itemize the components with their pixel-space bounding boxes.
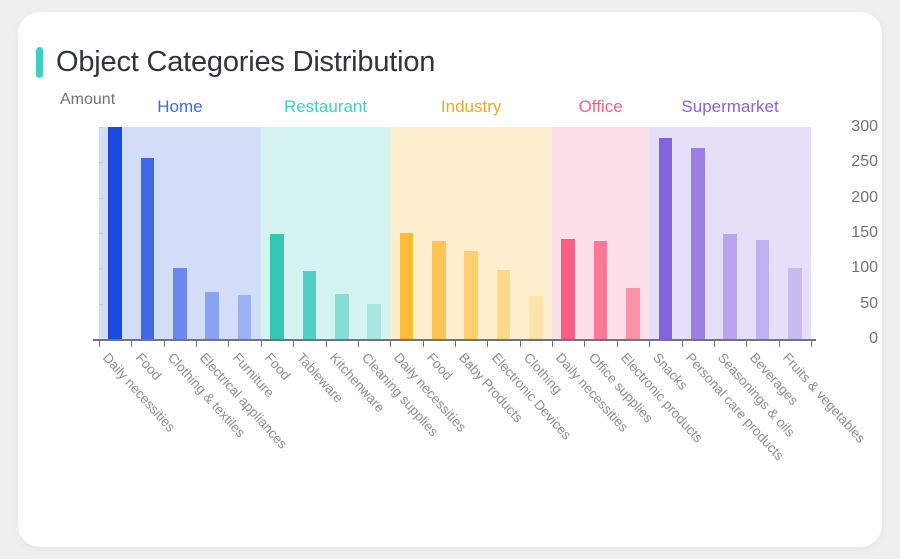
x-axis-tick-label: Food	[132, 350, 164, 383]
x-axis-tick-mark	[779, 341, 780, 347]
bar[interactable]	[238, 295, 252, 339]
bar[interactable]	[723, 234, 737, 339]
bar[interactable]	[788, 268, 802, 339]
x-axis-tick-mark	[714, 341, 715, 347]
group-title-supermarket: Supermarket	[649, 97, 811, 117]
group-title-industry: Industry	[390, 97, 552, 117]
x-axis-tick-mark	[390, 341, 391, 347]
y-axis-tick-label: 200	[851, 189, 878, 207]
bar[interactable]	[626, 288, 640, 339]
y-axis-tick-mark	[99, 162, 103, 163]
bar[interactable]	[659, 138, 673, 339]
bar[interactable]	[335, 294, 349, 339]
bar[interactable]	[497, 270, 511, 339]
x-axis-tick-mark	[520, 341, 521, 347]
y-axis-tick-mark	[99, 233, 103, 234]
group-title-office: Office	[552, 97, 649, 117]
x-axis-tick-mark	[131, 341, 132, 347]
x-axis-tick-mark	[358, 341, 359, 347]
x-axis-tick-mark	[261, 341, 262, 347]
x-axis-tick-mark	[487, 341, 488, 347]
group-title-home: Home	[99, 97, 261, 117]
bar[interactable]	[561, 239, 575, 339]
bar[interactable]	[529, 296, 543, 339]
y-axis-tick-mark	[99, 268, 103, 269]
bar[interactable]	[205, 292, 219, 339]
bar[interactable]	[367, 304, 381, 339]
x-axis-tick-mark	[811, 341, 812, 347]
bar[interactable]	[400, 233, 414, 339]
bar[interactable]	[173, 268, 187, 339]
y-axis-tick-label: 250	[851, 153, 878, 171]
bar[interactable]	[303, 271, 317, 339]
x-axis-tick-mark	[228, 341, 229, 347]
x-axis-tick-mark	[552, 341, 553, 347]
y-axis-tick-label: 0	[869, 330, 878, 348]
bar[interactable]	[432, 241, 446, 339]
x-axis-tick-mark	[423, 341, 424, 347]
x-axis-tick-mark	[617, 341, 618, 347]
plot-area: HomeRestaurantIndustryOfficeSupermarket	[99, 127, 811, 339]
x-axis-tick-mark	[746, 341, 747, 347]
group-title-restaurant: Restaurant	[261, 97, 390, 117]
x-axis-tick-mark	[196, 341, 197, 347]
bar[interactable]	[464, 251, 478, 339]
y-axis-tick-mark	[99, 127, 103, 128]
y-axis-tick-label: 300	[851, 118, 878, 136]
x-axis-tick-mark	[584, 341, 585, 347]
bar[interactable]	[141, 158, 155, 339]
bar[interactable]	[594, 241, 608, 339]
y-axis-tick-label: 50	[860, 295, 878, 313]
x-axis-tick-mark	[455, 341, 456, 347]
bar[interactable]	[691, 148, 705, 340]
bar[interactable]	[756, 240, 770, 339]
x-axis-tick-mark	[99, 341, 100, 347]
x-axis-tick-label: Food	[424, 350, 456, 383]
x-axis-tick-mark	[682, 341, 683, 347]
y-axis-tick-mark	[99, 198, 103, 199]
x-axis-tick-mark	[649, 341, 650, 347]
y-axis-tick-mark	[99, 304, 103, 305]
chart-card: Object Categories Distribution Amount Ho…	[18, 12, 882, 547]
y-axis-tick-label: 150	[851, 224, 878, 242]
y-axis-tick-label: 100	[851, 259, 878, 277]
x-axis-tick-mark	[164, 341, 165, 347]
y-axis	[58, 120, 102, 348]
bar[interactable]	[108, 127, 122, 339]
bar[interactable]	[270, 234, 284, 339]
x-axis-tick-mark	[326, 341, 327, 347]
x-axis-tick-mark	[293, 341, 294, 347]
bar-chart: Amount HomeRestaurantIndustryOfficeSuper…	[18, 12, 882, 547]
